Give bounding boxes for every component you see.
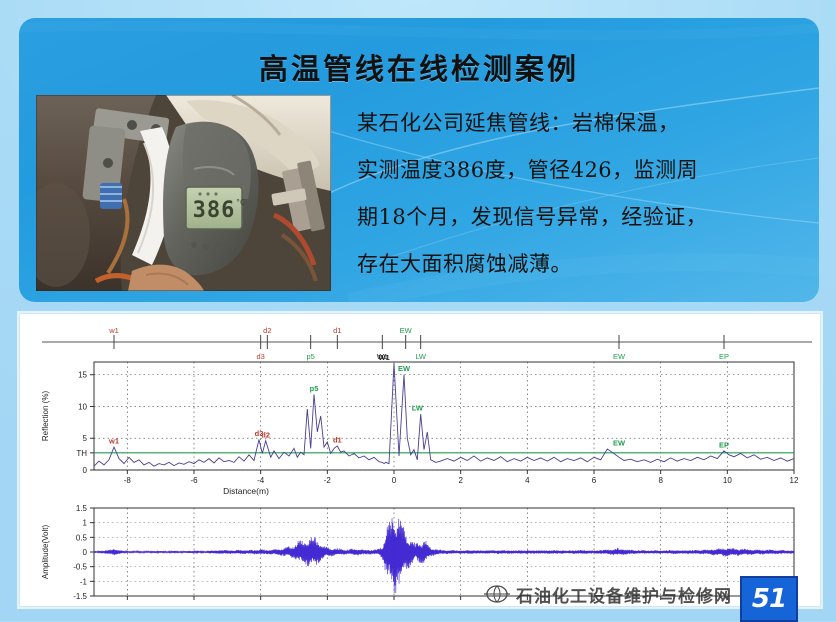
svg-text:p5: p5 (310, 384, 319, 393)
description-line-3: 期18个月，发现信号异常，经验证， (357, 194, 809, 241)
description-text: 某石化公司延焦管线：岩棉保温， 实测温度386度，管径426，监测周 期18个月… (357, 100, 809, 288)
description-line-1: 某石化公司延焦管线：岩棉保温， (357, 100, 809, 147)
svg-text:w1: w1 (108, 437, 119, 446)
svg-text:LW: LW (412, 404, 424, 413)
svg-text:1: 1 (83, 519, 88, 528)
page-title: 高温管线在线检测案例 (19, 46, 819, 88)
svg-text:d3: d3 (256, 352, 264, 361)
svg-text:TH: TH (76, 449, 87, 458)
svg-text:2: 2 (458, 476, 463, 485)
header-panel: 高温管线在线检测案例 (19, 18, 819, 302)
svg-text:10: 10 (78, 402, 87, 411)
svg-text:-1: -1 (80, 577, 88, 586)
svg-text:LW: LW (415, 352, 427, 361)
svg-text:Amplitude(Volt): Amplitude(Volt) (41, 525, 50, 580)
svg-text:-1.5: -1.5 (73, 592, 87, 600)
svg-text:8: 8 (658, 476, 663, 485)
svg-text:-6: -6 (190, 476, 198, 485)
slide-canvas: 高温管线在线检测案例 (0, 0, 836, 621)
svg-text:Reflection (%): Reflection (%) (41, 391, 50, 442)
svg-text:12: 12 (790, 476, 799, 485)
svg-text:EW: EW (613, 352, 626, 361)
svg-text:0.5: 0.5 (76, 533, 88, 542)
svg-text:d2: d2 (261, 430, 270, 439)
svg-text:0: 0 (392, 476, 397, 485)
svg-text:-2: -2 (324, 476, 332, 485)
svg-text:6: 6 (592, 476, 597, 485)
svg-text:5: 5 (83, 434, 88, 443)
svg-text:p5: p5 (306, 352, 314, 361)
description-line-2: 实测温度386度，管径426，监测周 (357, 147, 809, 194)
svg-text:°C: °C (236, 198, 246, 207)
chart-canvas: w1d3d2p5d1W1EWLWEWEP0TH51015w1d3d2p5d1W1… (26, 320, 814, 600)
svg-text:w1: w1 (108, 326, 119, 335)
description-line-4: 存在大面积腐蚀减薄。 (357, 241, 809, 288)
svg-text:1.5: 1.5 (76, 504, 88, 513)
svg-text:10: 10 (723, 476, 732, 485)
guided-wave-chart-panel: w1d3d2p5d1W1EWLWEWEP0TH51015w1d3d2p5d1W1… (19, 313, 821, 607)
thermometer-photo: 386 °C (36, 95, 331, 291)
svg-text:15: 15 (78, 371, 87, 380)
svg-text:0: 0 (83, 466, 88, 475)
svg-text:0: 0 (83, 548, 88, 557)
svg-text:4: 4 (525, 476, 530, 485)
svg-text:-0.5: -0.5 (73, 563, 87, 572)
svg-text:d1: d1 (333, 326, 341, 335)
chart-svg: w1d3d2p5d1W1EWLWEWEP0TH51015w1d3d2p5d1W1… (26, 320, 814, 600)
svg-text:EW: EW (398, 364, 411, 373)
svg-text:EW: EW (613, 439, 626, 448)
svg-text:EP: EP (719, 440, 729, 449)
svg-text:EW: EW (400, 326, 413, 335)
svg-text:d2: d2 (263, 326, 271, 335)
svg-text:386: 386 (193, 198, 236, 223)
svg-text:EP: EP (719, 352, 729, 361)
svg-text:-4: -4 (257, 476, 265, 485)
svg-text:d1: d1 (333, 435, 342, 444)
svg-text:-8: -8 (124, 476, 132, 485)
svg-text:W1: W1 (378, 353, 389, 362)
svg-text:Distance(m): Distance(m) (223, 486, 269, 496)
